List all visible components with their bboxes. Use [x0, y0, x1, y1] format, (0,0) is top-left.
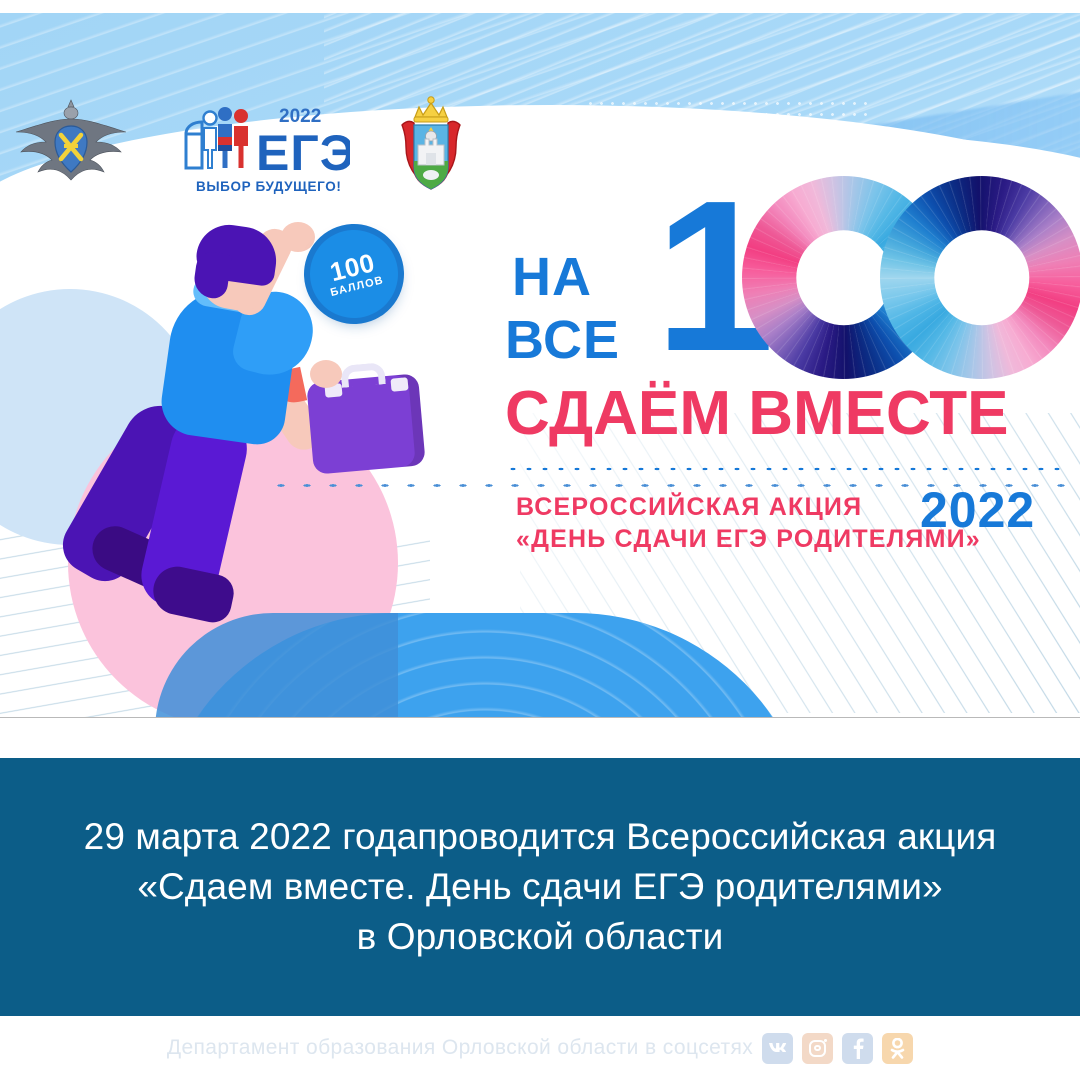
- character-shoe-front: [149, 562, 237, 626]
- facebook-icon[interactable]: [842, 1033, 873, 1064]
- character-hand-raised: [281, 222, 315, 252]
- facebook-glyph: [852, 1037, 864, 1059]
- dotted-separator: [505, 465, 1065, 473]
- svg-text:ВЫБОР БУДУЩЕГО!: ВЫБОР БУДУЩЕГО!: [196, 179, 341, 194]
- headline-na: НА: [512, 250, 592, 304]
- promo-banner: 100 БАЛЛОВ НА ВСЕ 1 СДАЁМ ВМЕСТЕ ВСЕРОСС…: [0, 13, 1080, 718]
- action-description: ВСЕРОССИЙСКАЯ АКЦИЯ «ДЕНЬ СДАЧИ ЕГЭ РОДИ…: [516, 491, 981, 555]
- character-hand-holding-case: [310, 360, 342, 388]
- caption-line-1: 29 марта 2022 годапроводится Всероссийск…: [84, 812, 997, 862]
- vk-glyph: [768, 1042, 788, 1055]
- vk-icon[interactable]: [762, 1033, 793, 1064]
- instagram-dot: [824, 1039, 827, 1042]
- logo-row: 2022 ЕГЭ ВЫБОР БУДУЩЕГО!: [0, 13, 1080, 213]
- footer-social-bar: Департамент образования Орловской област…: [0, 1016, 1080, 1080]
- orel-coat-of-arms-icon: [388, 95, 474, 193]
- svg-text:ЕГЭ: ЕГЭ: [256, 125, 350, 181]
- caption-line-2: «Сдаем вместе. День сдачи ЕГЭ родителями…: [84, 862, 997, 912]
- briefcase-latch-right: [390, 377, 408, 391]
- caption-text: 29 марта 2022 годапроводится Всероссийск…: [70, 812, 1011, 963]
- page-root: 100 БАЛЛОВ НА ВСЕ 1 СДАЁМ ВМЕСТЕ ВСЕРОСС…: [0, 0, 1080, 1080]
- odnoklassniki-icon[interactable]: [882, 1033, 913, 1064]
- action-line-2: «ДЕНЬ СДАЧИ ЕГЭ РОДИТЕЛЯМИ»: [516, 523, 981, 555]
- top-white-strip: [0, 0, 1080, 13]
- banner-year: 2022: [920, 481, 1035, 539]
- caption-banner: 29 марта 2022 годапроводится Всероссийск…: [0, 758, 1080, 1016]
- headline-vse: ВСЕ: [505, 313, 620, 367]
- action-line-1: ВСЕРОССИЙСКАЯ АКЦИЯ: [516, 491, 981, 523]
- caption-line-3: в Орловской области: [84, 912, 997, 962]
- instagram-frame: [809, 1040, 826, 1057]
- ege-logo-icon: 2022 ЕГЭ ВЫБОР БУДУЩЕГО!: [180, 98, 350, 198]
- instagram-icon[interactable]: [802, 1033, 833, 1064]
- briefcase-handle: [340, 362, 386, 388]
- odnoklassniki-glyph: [890, 1038, 905, 1059]
- rosobrnadzor-eagle-icon: [12, 88, 130, 188]
- subheadline-sdaem-vmeste: СДАЁМ ВМЕСТЕ: [505, 383, 1008, 445]
- svg-text:2022: 2022: [279, 106, 321, 127]
- instagram-lens: [814, 1045, 821, 1052]
- footer-label: Департамент образования Орловской област…: [167, 1036, 753, 1060]
